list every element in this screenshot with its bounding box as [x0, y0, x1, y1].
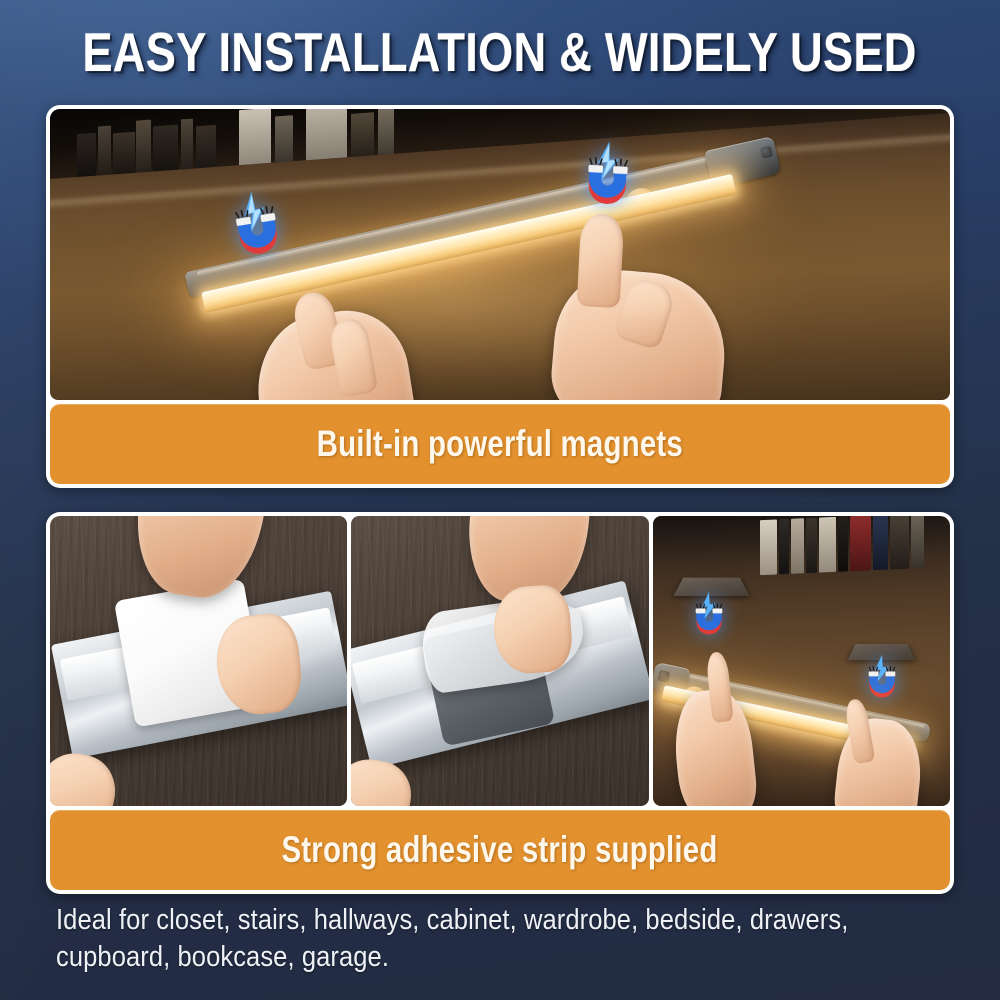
section-card-magnets: Built-in powerful magnets	[46, 105, 954, 488]
magnet-icon	[861, 652, 903, 698]
photo-mounting-bar-with-magnets	[653, 516, 950, 806]
photo-applying-adhesive-strip	[50, 516, 347, 806]
magnet-icon	[688, 589, 730, 635]
bookshelf-books	[760, 516, 950, 575]
infographic-canvas: EASY INSTALLATION & WIDELY USED	[0, 0, 1000, 1000]
page-title-bar: EASY INSTALLATION & WIDELY USED	[0, 0, 1000, 103]
magnet-icon	[576, 137, 641, 206]
section-card-adhesive: Strong adhesive strip supplied	[46, 512, 954, 894]
caption-banner-magnets: Built-in powerful magnets	[50, 404, 950, 484]
charging-port-icon	[759, 146, 772, 159]
photo-row-adhesive	[50, 516, 950, 806]
photo-peeling-backing-film	[351, 516, 648, 806]
photo-hands-installing-led-bar-under-cabinet	[50, 109, 950, 400]
caption-banner-adhesive: Strong adhesive strip supplied	[50, 810, 950, 890]
caption-text: Built-in powerful magnets	[317, 422, 683, 465]
photo-row-magnets	[50, 109, 950, 400]
caption-text: Strong adhesive strip supplied	[282, 828, 718, 871]
page-title: EASY INSTALLATION & WIDELY USED	[83, 20, 917, 84]
right-hand-index-finger	[577, 213, 625, 308]
magnet-icon	[220, 183, 292, 258]
description-text: Ideal for closet, stairs, hallways, cabi…	[56, 902, 946, 975]
